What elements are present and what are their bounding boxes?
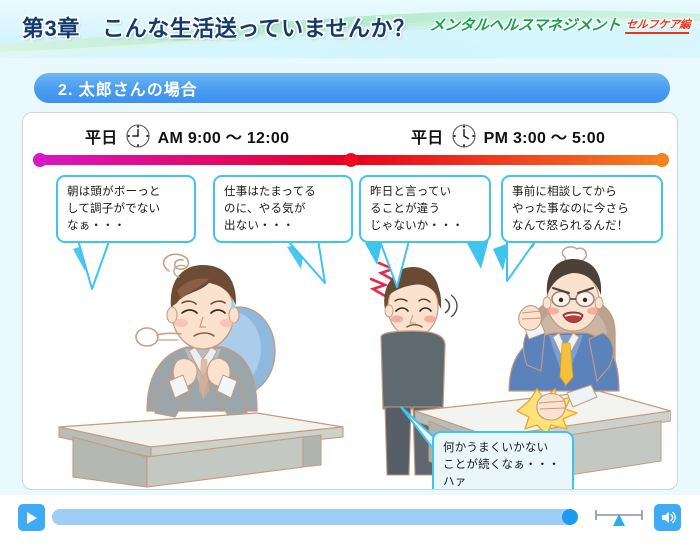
volume-slider[interactable] xyxy=(594,509,644,529)
speech-bubble-nothing-works: 何かうまくいかない ことが続くなぁ・・・ ハァ xyxy=(432,431,574,490)
brand-title: メンタルヘルスマネジメント xyxy=(429,14,622,35)
speech-bubble-why-scolded: 事前に相談してから やった事なのに今さら なんで怒られるんだ！ xyxy=(501,175,663,243)
media-player-bar xyxy=(0,495,700,547)
speech-bubble-text: 昨日と言ってい ることが違う じゃないか・・・ xyxy=(370,186,464,232)
timeline-afternoon-time: PM 3:00 ～ 5:00 xyxy=(484,124,606,148)
content-panel: 平日 AM 9:00 ～ 12:00 平日 PM 3:00 ～ 5:00 xyxy=(22,112,678,490)
progress-slider[interactable] xyxy=(52,509,577,525)
play-button[interactable] xyxy=(18,504,45,531)
speech-bubble-text: 朝は頭がボーっと して調子がでない なぁ・・・ xyxy=(67,186,161,232)
mute-button[interactable] xyxy=(654,504,681,531)
section-heading-bar: 2. 太郎さんの場合 xyxy=(34,73,670,103)
speech-bubble-text: 何かうまくいかない ことが続くなぁ・・・ ハァ xyxy=(443,442,560,488)
timeline-label-morning: 平日 AM 9:00 ～ 12:00 xyxy=(85,123,289,149)
play-icon xyxy=(25,511,38,525)
timeline-dot-start xyxy=(33,153,47,167)
speech-bubble-text: 仕事はたまってる のに、やる気が 出ない・・・ xyxy=(224,186,316,232)
speech-bubble-said-different: 昨日と言ってい ることが違う じゃないか・・・ xyxy=(359,175,491,243)
section-heading-text: 2. 太郎さんの場合 xyxy=(58,76,198,100)
clock-icon xyxy=(451,123,477,149)
page-header: 第3章 こんな生活送っていませんか？ メンタルヘルスマネジメント セルフケア編 xyxy=(0,0,700,58)
timeline-dot-end xyxy=(655,153,669,167)
speech-bubble-no-motivation: 仕事はたまってる のに、やる気が 出ない・・・ xyxy=(213,175,353,243)
brand-logo: メンタルヘルスマネジメント セルフケア編 xyxy=(430,14,690,35)
timeline-dot-mid xyxy=(344,153,358,167)
speech-bubble-text: 事前に相談してから やった事なのに今さら なんで怒られるんだ！ xyxy=(512,186,629,232)
brand-subtitle: セルフケア編 xyxy=(625,16,691,34)
speaker-icon xyxy=(660,510,676,525)
timeline-label-afternoon: 平日 PM 3:00 ～ 5:00 xyxy=(411,123,605,149)
speech-bubble-morning-head: 朝は頭がボーっと して調子がでない なぁ・・・ xyxy=(56,175,196,243)
timeline-afternoon-day: 平日 xyxy=(411,124,444,148)
chapter-title: 第3章 こんな生活送っていませんか？ xyxy=(22,11,415,43)
timeline-morning-time: AM 9:00 ～ 12:00 xyxy=(158,124,290,148)
progress-slider-thumb[interactable] xyxy=(562,509,578,525)
timeline-bar xyxy=(33,153,669,167)
timeline-morning-day: 平日 xyxy=(85,124,118,148)
clock-icon xyxy=(125,123,151,149)
